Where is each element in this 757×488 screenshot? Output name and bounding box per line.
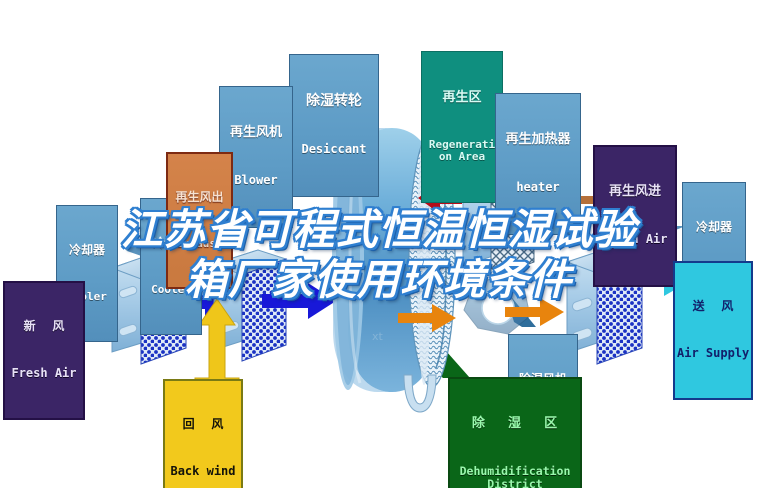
diagram-canvas: xt 除湿转轮 Desiccant 再生风机 Blower 再生区 Regene…: [0, 0, 757, 488]
label-regeneration-area-cn: 再生区: [424, 91, 500, 105]
label-desiccant-wheel[interactable]: 除湿转轮 Desiccant: [289, 54, 379, 197]
label-regeneration-blower-cn: 再生风机: [223, 126, 289, 140]
label-back-wind-cn: 回 风: [168, 418, 238, 431]
rotor-drive-roller: [404, 375, 436, 412]
label-dehumidification-district[interactable]: 除 湿 区 Dehumidification District: [448, 377, 582, 488]
label-air-supply[interactable]: 送 风 Air Supply: [673, 261, 753, 400]
label-regeneration-heater-cn: 再生加热器: [499, 133, 577, 147]
label-exhaust[interactable]: 再生风出 Exhaust: [166, 152, 233, 289]
label-back-wind[interactable]: 回 风 Back wind: [163, 379, 243, 488]
label-dehumidification-district-cn: 除 湿 区: [452, 417, 578, 431]
label-regeneration-heater[interactable]: 再生加热器 heater: [495, 93, 581, 235]
label-regeneration-air-inlet-en: Fresh Air: [598, 233, 672, 246]
label-fresh-air-inlet-cn: 新 风: [9, 320, 79, 333]
label-fresh-air-inlet-en: Fresh Air: [9, 367, 79, 380]
label-air-supply-cn: 送 风: [677, 300, 749, 313]
label-fresh-air-inlet[interactable]: 新 风 Fresh Air: [3, 281, 85, 420]
label-exhaust-cn: 再生风出: [170, 191, 229, 204]
label-desiccant-wheel-en: Desiccant: [293, 143, 375, 156]
label-regeneration-area-en: Regenerati on Area: [424, 139, 500, 163]
label-regeneration-air-inlet[interactable]: 再生风进 Fresh Air: [593, 145, 677, 287]
label-dehumidification-district-en: Dehumidification District: [452, 465, 578, 488]
label-back-wind-en: Back wind: [168, 465, 238, 478]
label-air-supply-en: Air Supply: [677, 347, 749, 360]
label-exhaust-en: Exhaust: [170, 238, 229, 250]
label-desiccant-wheel-cn: 除湿转轮: [293, 94, 375, 109]
label-cooler-right-cn: 冷却器: [685, 221, 743, 234]
label-regeneration-area[interactable]: 再生区 Regenerati on Area: [421, 51, 503, 203]
label-cooler-left-upper-cn: 冷却器: [59, 244, 115, 257]
label-regeneration-heater-en: heater: [499, 181, 577, 194]
label-regeneration-air-inlet-cn: 再生风进: [598, 185, 672, 199]
